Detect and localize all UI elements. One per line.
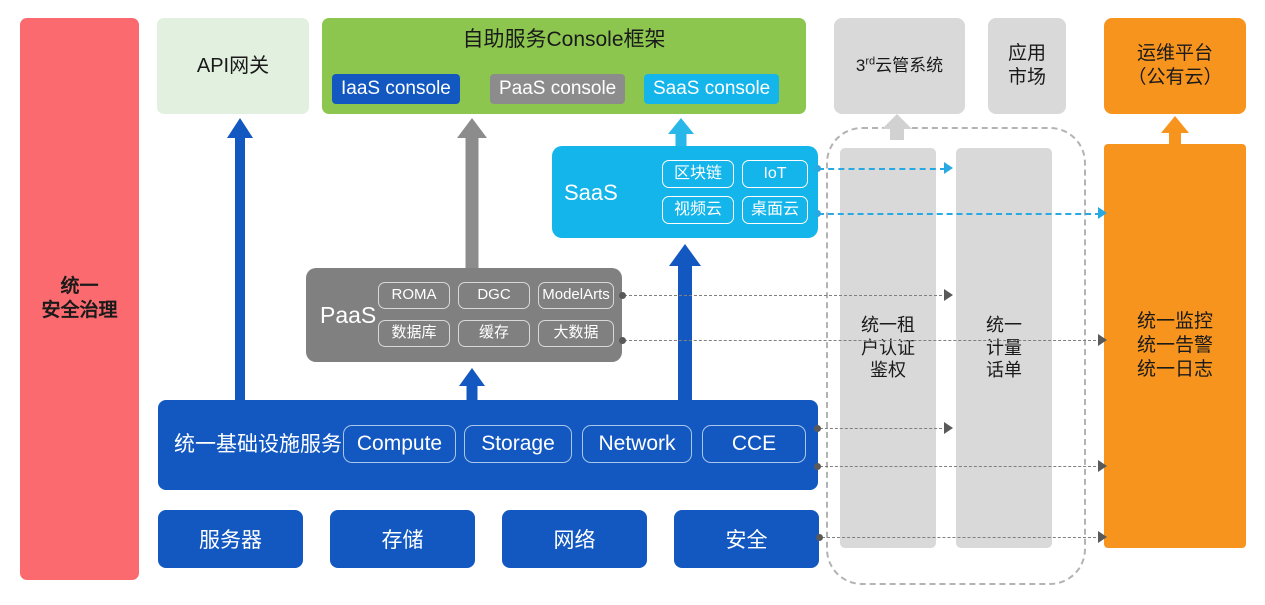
shared-service-metering: 统一 计量 话单 [956, 148, 1052, 548]
dashed-saas-to-ops [818, 213, 1101, 215]
paas-chip-database[interactable]: 数据库 [378, 320, 450, 347]
paas-panel: PaaS ROMA DGC ModelArts 数据库 缓存 大数据 [306, 268, 622, 362]
paas-chip-roma[interactable]: ROMA [378, 282, 450, 309]
hardware-box-network[interactable]: 网络 [502, 510, 647, 568]
paas-chip-modelarts[interactable]: ModelArts [538, 282, 614, 309]
arrow-infra-to-paas [459, 368, 485, 400]
paas-chip-cache[interactable]: 缓存 [458, 320, 530, 347]
arrowhead-infra-to-ops [1098, 460, 1107, 472]
dashed-paas-to-shared-auth [624, 295, 947, 296]
infra-chip-cce[interactable]: CCE [702, 425, 806, 463]
arrowhead-hardware-to-ops [1098, 531, 1107, 543]
dashed-hardware-to-ops [822, 537, 1101, 538]
arrow-paas-to-console [457, 118, 487, 268]
unified-infrastructure-panel: 统一基础设施服务 Compute Storage Network CCE [158, 400, 818, 490]
ops-platform-box: 运维平台 （公有云） [1104, 18, 1246, 114]
arrowhead-saas-to-shared-auth [944, 162, 953, 174]
iaas-console-chip[interactable]: IaaS console [332, 74, 460, 104]
dashed-infra-to-ops [820, 466, 1101, 467]
arrow-shared-to-third-party [882, 114, 912, 140]
saas-label: SaaS [564, 179, 618, 207]
dashed-infra-to-shared-meter [820, 428, 947, 429]
dot-paas-row1 [619, 292, 626, 299]
saas-chip-desktop-cloud[interactable]: 桌面云 [742, 196, 808, 224]
hardware-box-storage[interactable]: 存储 [330, 510, 475, 568]
api-gateway-box: API网关 [157, 18, 309, 114]
application-market-box: 应用 市场 [988, 18, 1066, 114]
dot-infra-row1 [814, 425, 821, 432]
dashed-saas-to-shared-auth [818, 168, 946, 170]
paas-chip-bigdata[interactable]: 大数据 [538, 320, 614, 347]
saas-chip-video-cloud[interactable]: 视频云 [662, 196, 734, 224]
infra-chip-network[interactable]: Network [582, 425, 692, 463]
hardware-box-security[interactable]: 安全 [674, 510, 819, 568]
arrowhead-paas-to-ops [1098, 334, 1107, 346]
saas-chip-blockchain[interactable]: 区块链 [662, 160, 734, 188]
dot-infra-row2 [814, 463, 821, 470]
arrow-infra-to-saas [669, 244, 701, 400]
unified-infrastructure-label: 统一基础设施服务 [174, 432, 342, 458]
paas-label: PaaS [320, 301, 376, 330]
arrowhead-saas-to-ops [1098, 207, 1107, 219]
arrow-ops-column-to-platform [1161, 116, 1189, 146]
dot-hardware-row [816, 534, 823, 541]
dot-paas-row2 [619, 337, 626, 344]
saas-panel: SaaS 区块链 IoT 视频云 桌面云 [552, 146, 818, 238]
arrowhead-infra-to-shared-meter [944, 422, 953, 434]
architecture-diagram: 统一 安全治理 API网关 自助服务Console框架 IaaS console… [0, 0, 1265, 605]
saas-chip-iot[interactable]: IoT [742, 160, 808, 188]
infra-chip-compute[interactable]: Compute [343, 425, 456, 463]
arrow-saas-to-console [668, 118, 694, 146]
arrow-infra-to-api-gateway [227, 118, 253, 400]
paas-chip-dgc[interactable]: DGC [458, 282, 530, 309]
dashed-paas-to-ops [624, 340, 1101, 341]
dot-saas-row2 [814, 210, 821, 217]
third-party-cloud-mgmt-box: 3rd云管系统 [834, 18, 965, 114]
saas-console-chip[interactable]: SaaS console [644, 74, 779, 104]
hardware-box-server[interactable]: 服务器 [158, 510, 303, 568]
shared-service-tenant-auth: 统一租 户认证 鉴权 [840, 148, 936, 548]
console-framework-panel: 自助服务Console框架 IaaS console PaaS console … [322, 18, 806, 114]
security-governance-column: 统一 安全治理 [20, 18, 139, 580]
arrowhead-paas-to-shared-auth [944, 289, 953, 301]
ops-monitoring-column: 统一监控 统一告警 统一日志 [1104, 144, 1246, 548]
paas-console-chip[interactable]: PaaS console [490, 74, 625, 104]
infra-chip-storage[interactable]: Storage [464, 425, 572, 463]
dot-saas-row1 [814, 165, 821, 172]
third-party-label: 3rd云管系统 [856, 55, 943, 76]
console-framework-title: 自助服务Console框架 [322, 27, 806, 53]
